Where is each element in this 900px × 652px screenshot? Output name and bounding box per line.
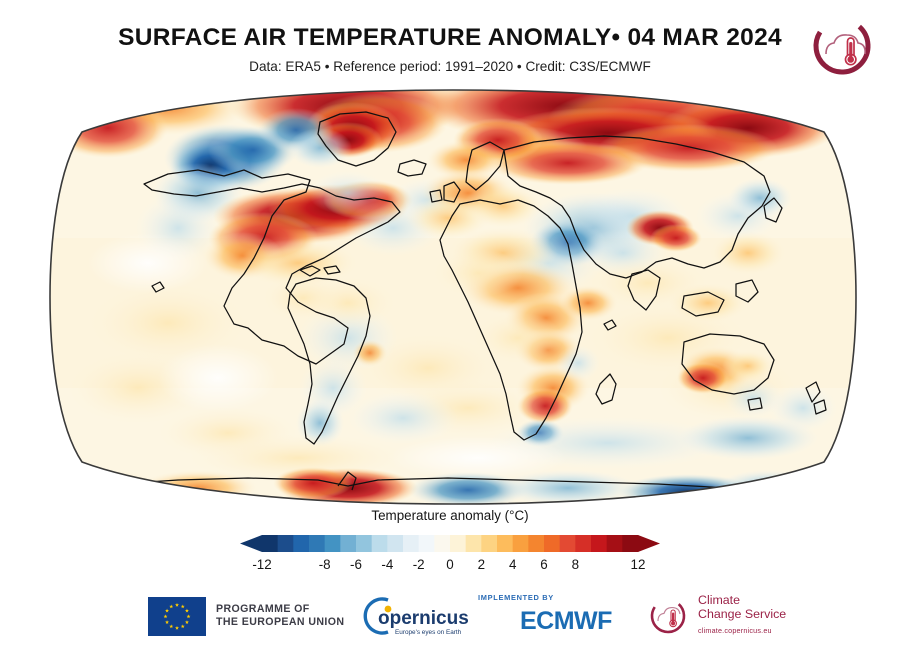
- c3s-thermometer-cloud-logo: [806, 14, 878, 80]
- eu-programme-logo: PROGRAMME OF THE EUROPEAN UNION: [148, 588, 344, 644]
- colorbar-band: [293, 535, 309, 552]
- colorbar-band: [481, 535, 497, 552]
- ecmwf-wordmark: ECMWF: [520, 607, 612, 634]
- ecmwf-implemented-by-label: IMPLEMENTED BY: [478, 593, 626, 602]
- eu-flag-icon: [148, 597, 206, 636]
- colorbar-tick-label: 8: [572, 557, 579, 572]
- copernicus-tagline: Europe's eyes on Earth: [395, 629, 462, 636]
- colorbar-tick-label: 4: [509, 557, 517, 572]
- colorbar-title: Temperature anomaly (°C): [0, 508, 900, 523]
- colorbar-tick-label: 6: [540, 557, 547, 572]
- colorbar-band: [403, 535, 419, 552]
- colorbar-tick-label: -2: [413, 557, 425, 572]
- colorbar-band: [419, 535, 435, 552]
- colorbar-extend-max: [638, 535, 660, 552]
- colorbar-extend-min: [240, 535, 262, 552]
- colorbar-band: [513, 535, 529, 552]
- c3s-line-2: Change Service: [698, 608, 786, 622]
- colorbar-band: [466, 535, 482, 552]
- c3s-thermometer-cloud-logo: [648, 596, 690, 636]
- page-title: SURFACE AIR TEMPERATURE ANOMALY• 04 MAR …: [0, 24, 900, 52]
- ecmwf-logo: IMPLEMENTED BY ECMWF: [478, 588, 626, 644]
- page-subtitle: Data: ERA5 • Reference period: 1991–2020…: [0, 59, 900, 74]
- colorbar: Temperature anomaly (°C) -12-8-6-4-20246…: [0, 508, 900, 580]
- colorbar-band: [325, 535, 341, 552]
- colorbar-tick-label: 2: [478, 557, 485, 572]
- colorbar-band: [622, 535, 638, 552]
- colorbar-band: [544, 535, 560, 552]
- colorbar-tick-labels: -12-8-6-4-20246812: [252, 557, 645, 572]
- colorbar-tick-label: -4: [381, 557, 393, 572]
- copernicus-wordmark: opernicus: [378, 608, 469, 629]
- colorbar-band: [356, 535, 372, 552]
- copernicus-logo: opernicus Europe's eyes on Earth: [358, 588, 470, 644]
- colorbar-band: [560, 535, 576, 552]
- colorbar-bands: [240, 535, 660, 552]
- colorbar-band: [262, 535, 278, 552]
- colorbar-band: [591, 535, 607, 552]
- colorbar-tick-label: -6: [350, 557, 362, 572]
- anomaly-field: [48, 88, 858, 506]
- colorbar-band: [607, 535, 623, 552]
- c3s-logo: Climate Change Service climate.copernicu…: [648, 588, 786, 644]
- eu-line-2: THE EUROPEAN UNION: [216, 616, 344, 629]
- colorbar-tick-label: -8: [319, 557, 331, 572]
- colorbar-tick-label: 12: [631, 557, 646, 572]
- temperature-anomaly-map: [48, 88, 858, 506]
- footer: PROGRAMME OF THE EUROPEAN UNION opernicu…: [0, 588, 900, 652]
- colorbar-band: [575, 535, 591, 552]
- colorbar-scale: -12-8-6-4-20246812: [228, 533, 672, 581]
- header: SURFACE AIR TEMPERATURE ANOMALY• 04 MAR …: [0, 0, 900, 92]
- colorbar-band: [450, 535, 466, 552]
- c3s-text: Climate Change Service climate.copernicu…: [698, 594, 786, 638]
- eu-line-1: PROGRAMME OF: [216, 603, 344, 616]
- eu-programme-text: PROGRAMME OF THE EUROPEAN UNION: [216, 603, 344, 629]
- colorbar-band: [434, 535, 450, 552]
- colorbar-tick-label: 0: [446, 557, 453, 572]
- colorbar-tick-label: -12: [252, 557, 271, 572]
- colorbar-band: [528, 535, 544, 552]
- colorbar-band: [309, 535, 325, 552]
- colorbar-band: [278, 535, 294, 552]
- colorbar-band: [387, 535, 403, 552]
- colorbar-band: [372, 535, 388, 552]
- colorbar-band: [497, 535, 513, 552]
- colorbar-band: [340, 535, 356, 552]
- c3s-line-1: Climate: [698, 594, 786, 608]
- c3s-url: climate.copernicus.eu: [698, 624, 786, 638]
